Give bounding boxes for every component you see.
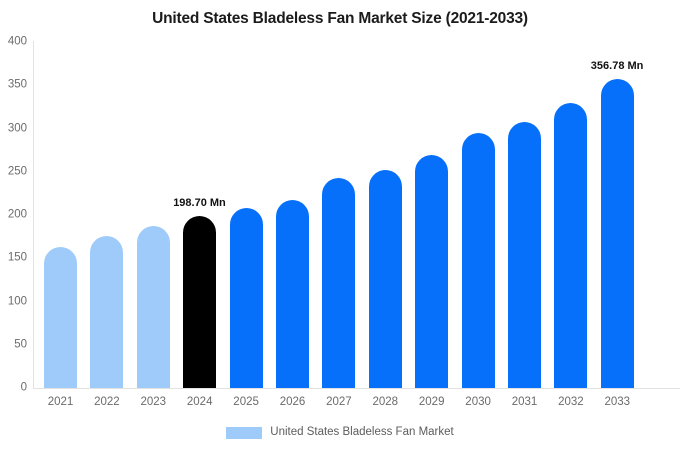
bar-2026[interactable] [276,200,309,388]
x-axis-tick-label: 2024 [183,397,216,409]
x-axis-tick-label: 2029 [415,397,448,409]
x-axis-tick-label: 2026 [276,397,309,409]
bar-2024[interactable] [183,216,216,388]
legend-item-label: United States Bladeless Fan Market [270,427,453,439]
bar-2023[interactable] [137,226,170,388]
bar-2028[interactable] [369,170,402,388]
bar-2022[interactable] [90,236,123,388]
bar-value-label-2024: 198.70 Mn [173,198,226,209]
bar-2031[interactable] [508,122,541,388]
bar-2027[interactable] [322,178,355,388]
x-axis-tick-label: 2023 [137,397,170,409]
bar-2029[interactable] [415,155,448,388]
bar-value-label-2033: 356.78 Mn [591,61,644,72]
bar-2033[interactable] [601,79,634,388]
bar-series: 2021202220232024198.70 Mn202520262027202… [0,0,680,450]
x-axis-tick-label: 2031 [508,397,541,409]
x-axis-tick-label: 2021 [44,397,77,409]
bar-2032[interactable] [554,103,587,388]
x-axis-tick-label: 2028 [369,397,402,409]
bar-2025[interactable] [230,208,263,388]
x-axis-tick-label: 2032 [554,397,587,409]
chart-legend: United States Bladeless Fan Market [0,427,680,439]
x-axis-tick-label: 2033 [601,397,634,409]
bar-chart: United States Bladeless Fan Market Size … [0,0,680,450]
x-axis-tick-label: 2022 [90,397,123,409]
bar-2030[interactable] [462,133,495,388]
bar-2021[interactable] [44,247,77,388]
legend-color-swatch [226,427,262,439]
x-axis-tick-label: 2027 [322,397,355,409]
x-axis-tick-label: 2030 [462,397,495,409]
x-axis-tick-label: 2025 [230,397,263,409]
